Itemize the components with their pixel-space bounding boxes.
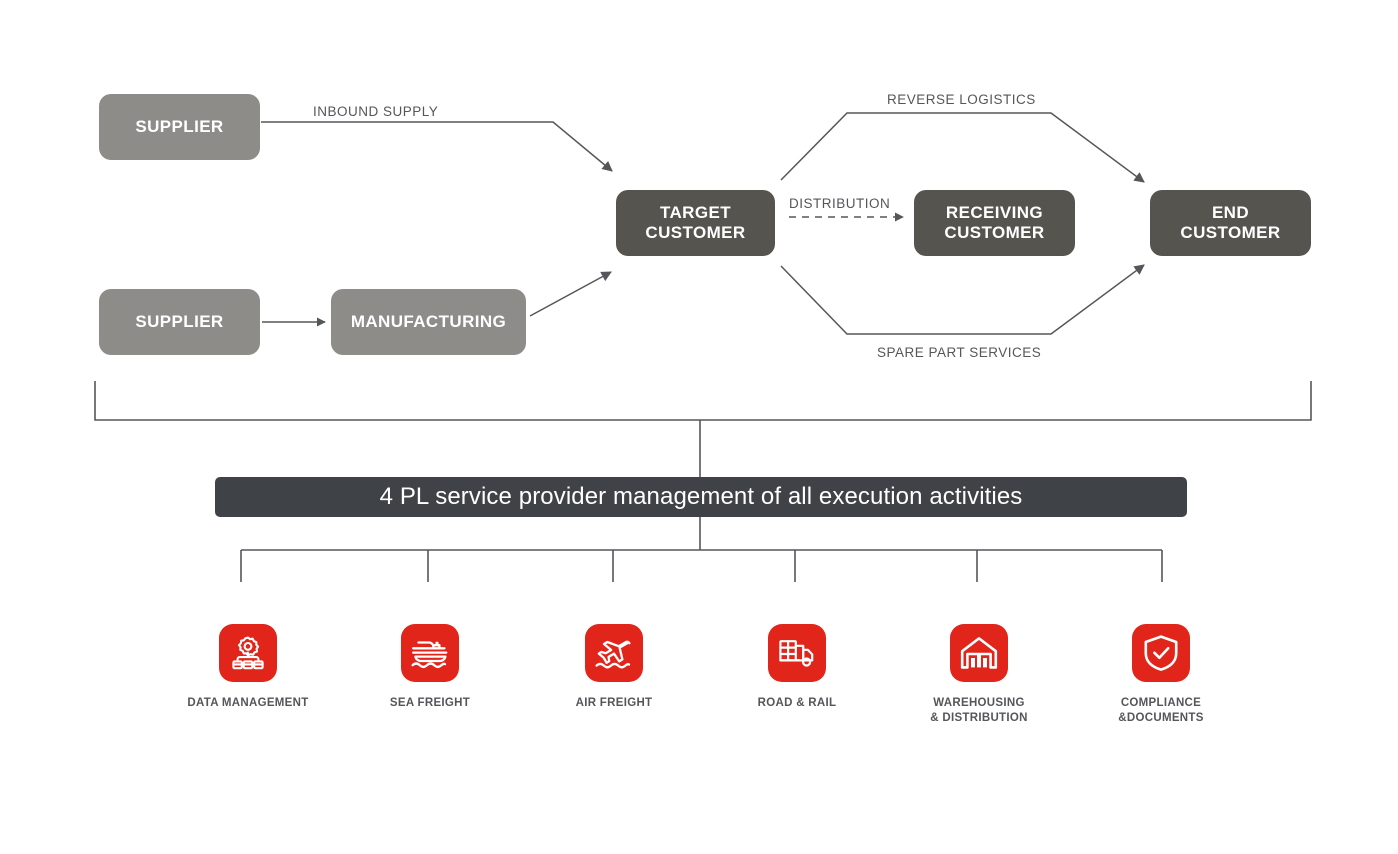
node-label: SUPPLIER: [135, 312, 223, 332]
edge-inbound-supply: [261, 122, 612, 171]
service-compliance-documents[interactable]: COMPLIANCE &DOCUMENTS: [1086, 624, 1236, 726]
edge-spare-part-services: [781, 265, 1144, 334]
node-label: RECEIVING CUSTOMER: [944, 203, 1044, 243]
edge-label-distribution: DISTRIBUTION: [789, 196, 890, 211]
node-label: SUPPLIER: [135, 117, 223, 137]
node-supplier-bottom[interactable]: SUPPLIER: [99, 289, 260, 355]
node-manufacturing[interactable]: MANUFACTURING: [331, 289, 526, 355]
edge-label-inbound-supply: INBOUND SUPPLY: [313, 104, 438, 119]
service-caption: WAREHOUSING & DISTRIBUTION: [930, 696, 1027, 726]
service-road-rail[interactable]: ROAD & RAIL: [722, 624, 872, 711]
node-supplier-top[interactable]: SUPPLIER: [99, 94, 260, 160]
node-target-customer[interactable]: TARGET CUSTOMER: [616, 190, 775, 256]
warehouse-icon: [950, 624, 1008, 682]
service-caption: DATA MANAGEMENT: [187, 696, 308, 711]
service-caption: ROAD & RAIL: [758, 696, 837, 711]
shield-check-icon: [1132, 624, 1190, 682]
gear-nodes-icon: [219, 624, 277, 682]
edge-label-spare-part-services: SPARE PART SERVICES: [877, 345, 1041, 360]
service-warehousing-distribution[interactable]: WAREHOUSING & DISTRIBUTION: [904, 624, 1054, 726]
node-label: TARGET CUSTOMER: [645, 203, 745, 243]
scope-bracket: [95, 381, 1311, 420]
service-sea-freight[interactable]: SEA FREIGHT: [355, 624, 505, 711]
fourpl-banner-text: 4 PL service provider management of all …: [380, 483, 1023, 511]
service-caption: SEA FREIGHT: [390, 696, 470, 711]
service-air-freight[interactable]: AIR FREIGHT: [539, 624, 689, 711]
edge-reverse-logistics: [781, 113, 1144, 182]
service-data-management[interactable]: DATA MANAGEMENT: [173, 624, 323, 711]
node-label-line1: END: [1180, 203, 1280, 223]
truck-icon: [768, 624, 826, 682]
node-label-line2: CUSTOMER: [944, 223, 1044, 243]
node-end-customer[interactable]: END CUSTOMER: [1150, 190, 1311, 256]
service-caption: AIR FREIGHT: [576, 696, 653, 711]
plane-icon: [585, 624, 643, 682]
node-label-line2: CUSTOMER: [1180, 223, 1280, 243]
service-caption: COMPLIANCE &DOCUMENTS: [1118, 696, 1203, 726]
node-label-line1: TARGET: [645, 203, 745, 223]
edge-label-reverse-logistics: REVERSE LOGISTICS: [887, 92, 1036, 107]
node-label: MANUFACTURING: [351, 312, 506, 332]
diagram-canvas: SUPPLIER SUPPLIER MANUFACTURING TARGET C…: [0, 0, 1398, 854]
fourpl-banner[interactable]: 4 PL service provider management of all …: [215, 477, 1187, 517]
edge-manufacturing-target: [530, 272, 611, 316]
node-receiving-customer[interactable]: RECEIVING CUSTOMER: [914, 190, 1075, 256]
node-label: END CUSTOMER: [1180, 203, 1280, 243]
ship-icon: [401, 624, 459, 682]
node-label-line2: CUSTOMER: [645, 223, 745, 243]
node-label-line1: RECEIVING: [944, 203, 1044, 223]
